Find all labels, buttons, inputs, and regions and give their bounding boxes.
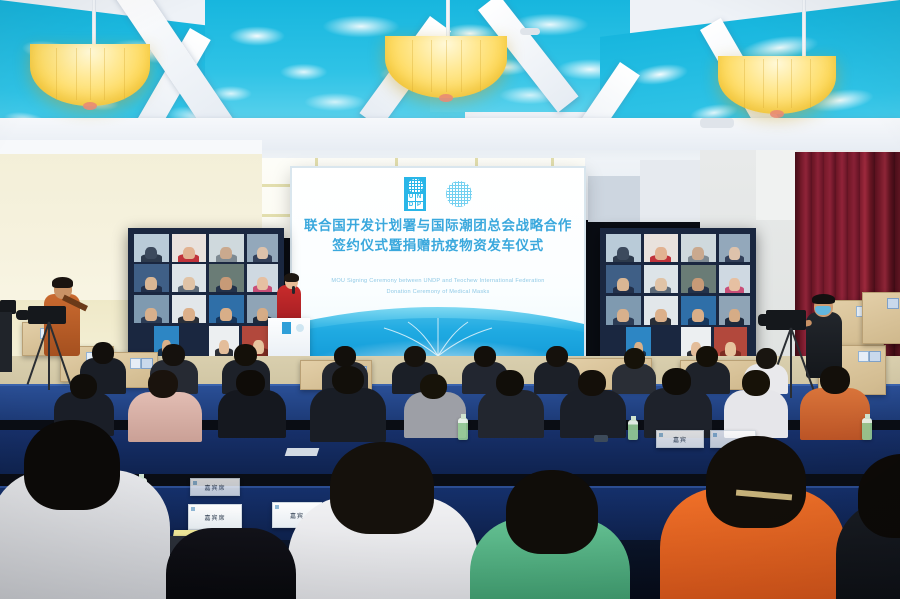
audience-member-head xyxy=(742,370,770,396)
video-tile xyxy=(172,264,207,292)
tripod-left xyxy=(30,322,70,392)
foreground-audience-head xyxy=(24,420,120,510)
face-mask-icon xyxy=(815,306,831,315)
video-tile xyxy=(719,265,751,294)
video-tile xyxy=(172,234,207,262)
wall-panel-right-back-2 xyxy=(640,160,700,222)
audience-member-head xyxy=(236,370,265,396)
foreground-audience-head xyxy=(330,442,434,534)
audience-member-head xyxy=(332,366,364,394)
speaker-torso xyxy=(277,285,301,321)
nameplate-text: 嘉宾席 xyxy=(204,483,225,492)
water-bottle xyxy=(628,420,638,440)
video-grid-right xyxy=(603,231,753,361)
screen-title-line-1: 联合国开发计划署与国际潮团总会战略合作 xyxy=(298,216,578,236)
screen-subtitle-line-1: MOU Signing Ceremony between UNDP and Te… xyxy=(302,276,574,287)
wall-panel-right-back xyxy=(588,176,640,222)
video-tile xyxy=(681,234,716,263)
undp-letter-p: P xyxy=(416,202,423,209)
video-grid-left xyxy=(131,231,281,359)
screen-logo-row: U N D P xyxy=(292,176,584,212)
video-tile xyxy=(714,327,747,358)
table-nameplate: 嘉宾 xyxy=(656,430,704,448)
screen-title-line-2: 签约仪式暨捐赠抗疫物资发车仪式 xyxy=(298,236,578,256)
audience-member-head xyxy=(334,346,356,367)
audience-member-head xyxy=(624,348,645,369)
video-camera-right xyxy=(766,310,806,330)
video-tile xyxy=(209,264,244,292)
mobile-phone xyxy=(594,435,608,442)
lamp-rod-center xyxy=(446,0,450,38)
nameplate-text: 嘉宾席 xyxy=(204,513,225,522)
foreground-audience-head xyxy=(506,470,598,554)
undp-logo: U N D P xyxy=(404,177,426,211)
audience-member-head xyxy=(662,368,691,395)
audience-member-head xyxy=(234,344,257,366)
undp-globe-icon xyxy=(408,179,423,193)
supply-carton xyxy=(862,292,900,344)
ceiling-fixture-right xyxy=(700,118,734,128)
foreground-audience-member xyxy=(166,528,296,599)
teochew-federation-globe-logo xyxy=(446,181,472,207)
camera-lens-left xyxy=(16,310,30,320)
video-tile xyxy=(172,295,207,323)
wall-right-recess xyxy=(756,150,796,220)
audience-member-head xyxy=(696,346,718,367)
audience-member-head xyxy=(756,348,777,369)
audience-member-head xyxy=(496,370,524,396)
video-tile xyxy=(644,296,679,325)
audience-member-head xyxy=(148,370,178,398)
microphone-icon xyxy=(292,286,295,294)
conference-hall-photo: U N D P 联合国开发计划署与国际潮团总会战略合作 签约仪式暨捐赠抗疫物资发… xyxy=(0,0,900,599)
podium-logo-federation xyxy=(296,324,304,332)
video-tile xyxy=(209,295,244,323)
video-tile xyxy=(134,264,169,292)
video-tile xyxy=(644,234,679,263)
audience-member xyxy=(800,388,870,440)
audience-member xyxy=(128,392,202,442)
speaker-hair xyxy=(284,273,299,282)
wall-left-cornice xyxy=(0,140,262,154)
video-tile xyxy=(719,296,751,325)
audience-member xyxy=(560,390,626,438)
video-tile xyxy=(134,234,169,262)
screen-subtitle-line-2: Donation Ceremony of Medical Masks xyxy=(302,287,574,298)
nameplate-text: 嘉宾 xyxy=(673,435,687,444)
audience-member-head xyxy=(820,366,850,394)
lamp-rod-left xyxy=(92,0,96,46)
table-nameplate: 嘉宾席 xyxy=(188,504,242,530)
video-tile xyxy=(644,265,679,294)
foreground-audience-head xyxy=(706,436,806,528)
audience-member-head xyxy=(420,374,447,399)
audience-member-head xyxy=(474,346,496,367)
audience-member-head xyxy=(162,344,185,366)
undp-letter-d: D xyxy=(408,202,415,209)
video-tile xyxy=(606,234,641,263)
video-tile xyxy=(606,265,641,294)
audience-member-head xyxy=(404,346,426,367)
video-tile xyxy=(681,296,716,325)
audience-member xyxy=(478,390,544,438)
photographer-hair xyxy=(52,277,73,288)
audience-member-head xyxy=(546,346,568,367)
table-nameplate: 嘉宾席 xyxy=(190,478,240,496)
equipment-stand-left xyxy=(0,312,12,372)
audience-member-head xyxy=(92,342,114,364)
audience-member xyxy=(218,390,286,438)
camera-lens-right xyxy=(758,314,770,326)
audience-member xyxy=(310,388,386,442)
led-wall-right xyxy=(600,228,756,364)
video-tile xyxy=(681,265,716,294)
water-bottle xyxy=(458,418,468,440)
table-document xyxy=(285,448,320,456)
video-tile xyxy=(247,234,279,262)
video-tile xyxy=(606,296,641,325)
screen-title-block: 联合国开发计划署与国际潮团总会战略合作 签约仪式暨捐赠抗疫物资发车仪式 xyxy=(298,216,578,255)
audience-member-head xyxy=(70,374,97,399)
main-presentation-screen: U N D P 联合国开发计划署与国际潮团总会战略合作 签约仪式暨捐赠抗疫物资发… xyxy=(292,168,584,360)
lamp-rod-right xyxy=(802,0,806,58)
screen-subtitle-block: MOU Signing Ceremony between UNDP and Te… xyxy=(302,276,574,297)
video-tile xyxy=(719,234,751,263)
led-wall-left xyxy=(128,228,284,362)
video-tile xyxy=(209,234,244,262)
water-bottle xyxy=(862,418,872,440)
video-tile xyxy=(134,295,169,323)
ceiling-vent xyxy=(520,28,540,35)
audience-member-head xyxy=(578,370,606,396)
videographer-hair xyxy=(812,294,835,304)
video-tile xyxy=(247,264,279,292)
undp-letter-n: N xyxy=(416,194,423,201)
undp-letter-u: U xyxy=(408,194,415,201)
podium-logo-undp xyxy=(282,322,291,334)
